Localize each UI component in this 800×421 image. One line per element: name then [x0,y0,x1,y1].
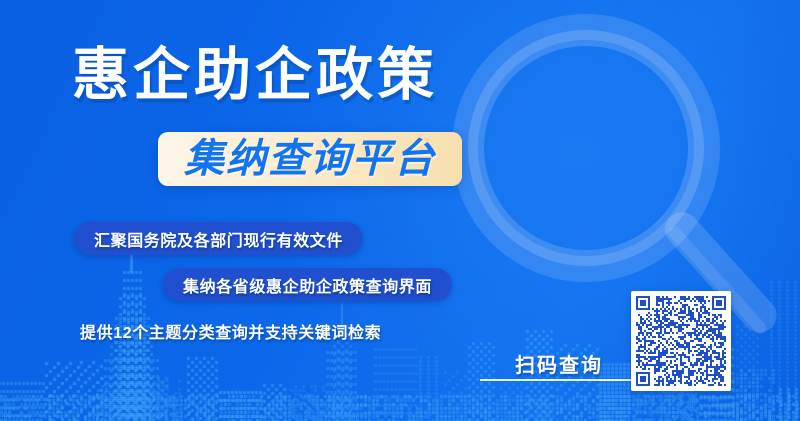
page-title: 惠企助企政策 [72,47,438,104]
qr-code[interactable] [631,291,731,391]
subtitle-banner: 集纳查询平台 [158,132,462,186]
promo-banner: 惠企助企政策 集纳查询平台 汇聚国务院及各部门现行有效文件 集纳各省级惠企助企政… [0,0,800,421]
scan-label: 扫码查询 [515,349,603,378]
feature-item-3: 提供12个主题分类查询并支持关键词检索 [72,314,401,347]
subtitle-text: 集纳查询平台 [184,139,436,179]
feature-item-2: 集纳各省级惠企助企政策查询界面 [163,268,452,301]
feature-item-1: 汇聚国务院及各部门现行有效文件 [74,222,363,255]
